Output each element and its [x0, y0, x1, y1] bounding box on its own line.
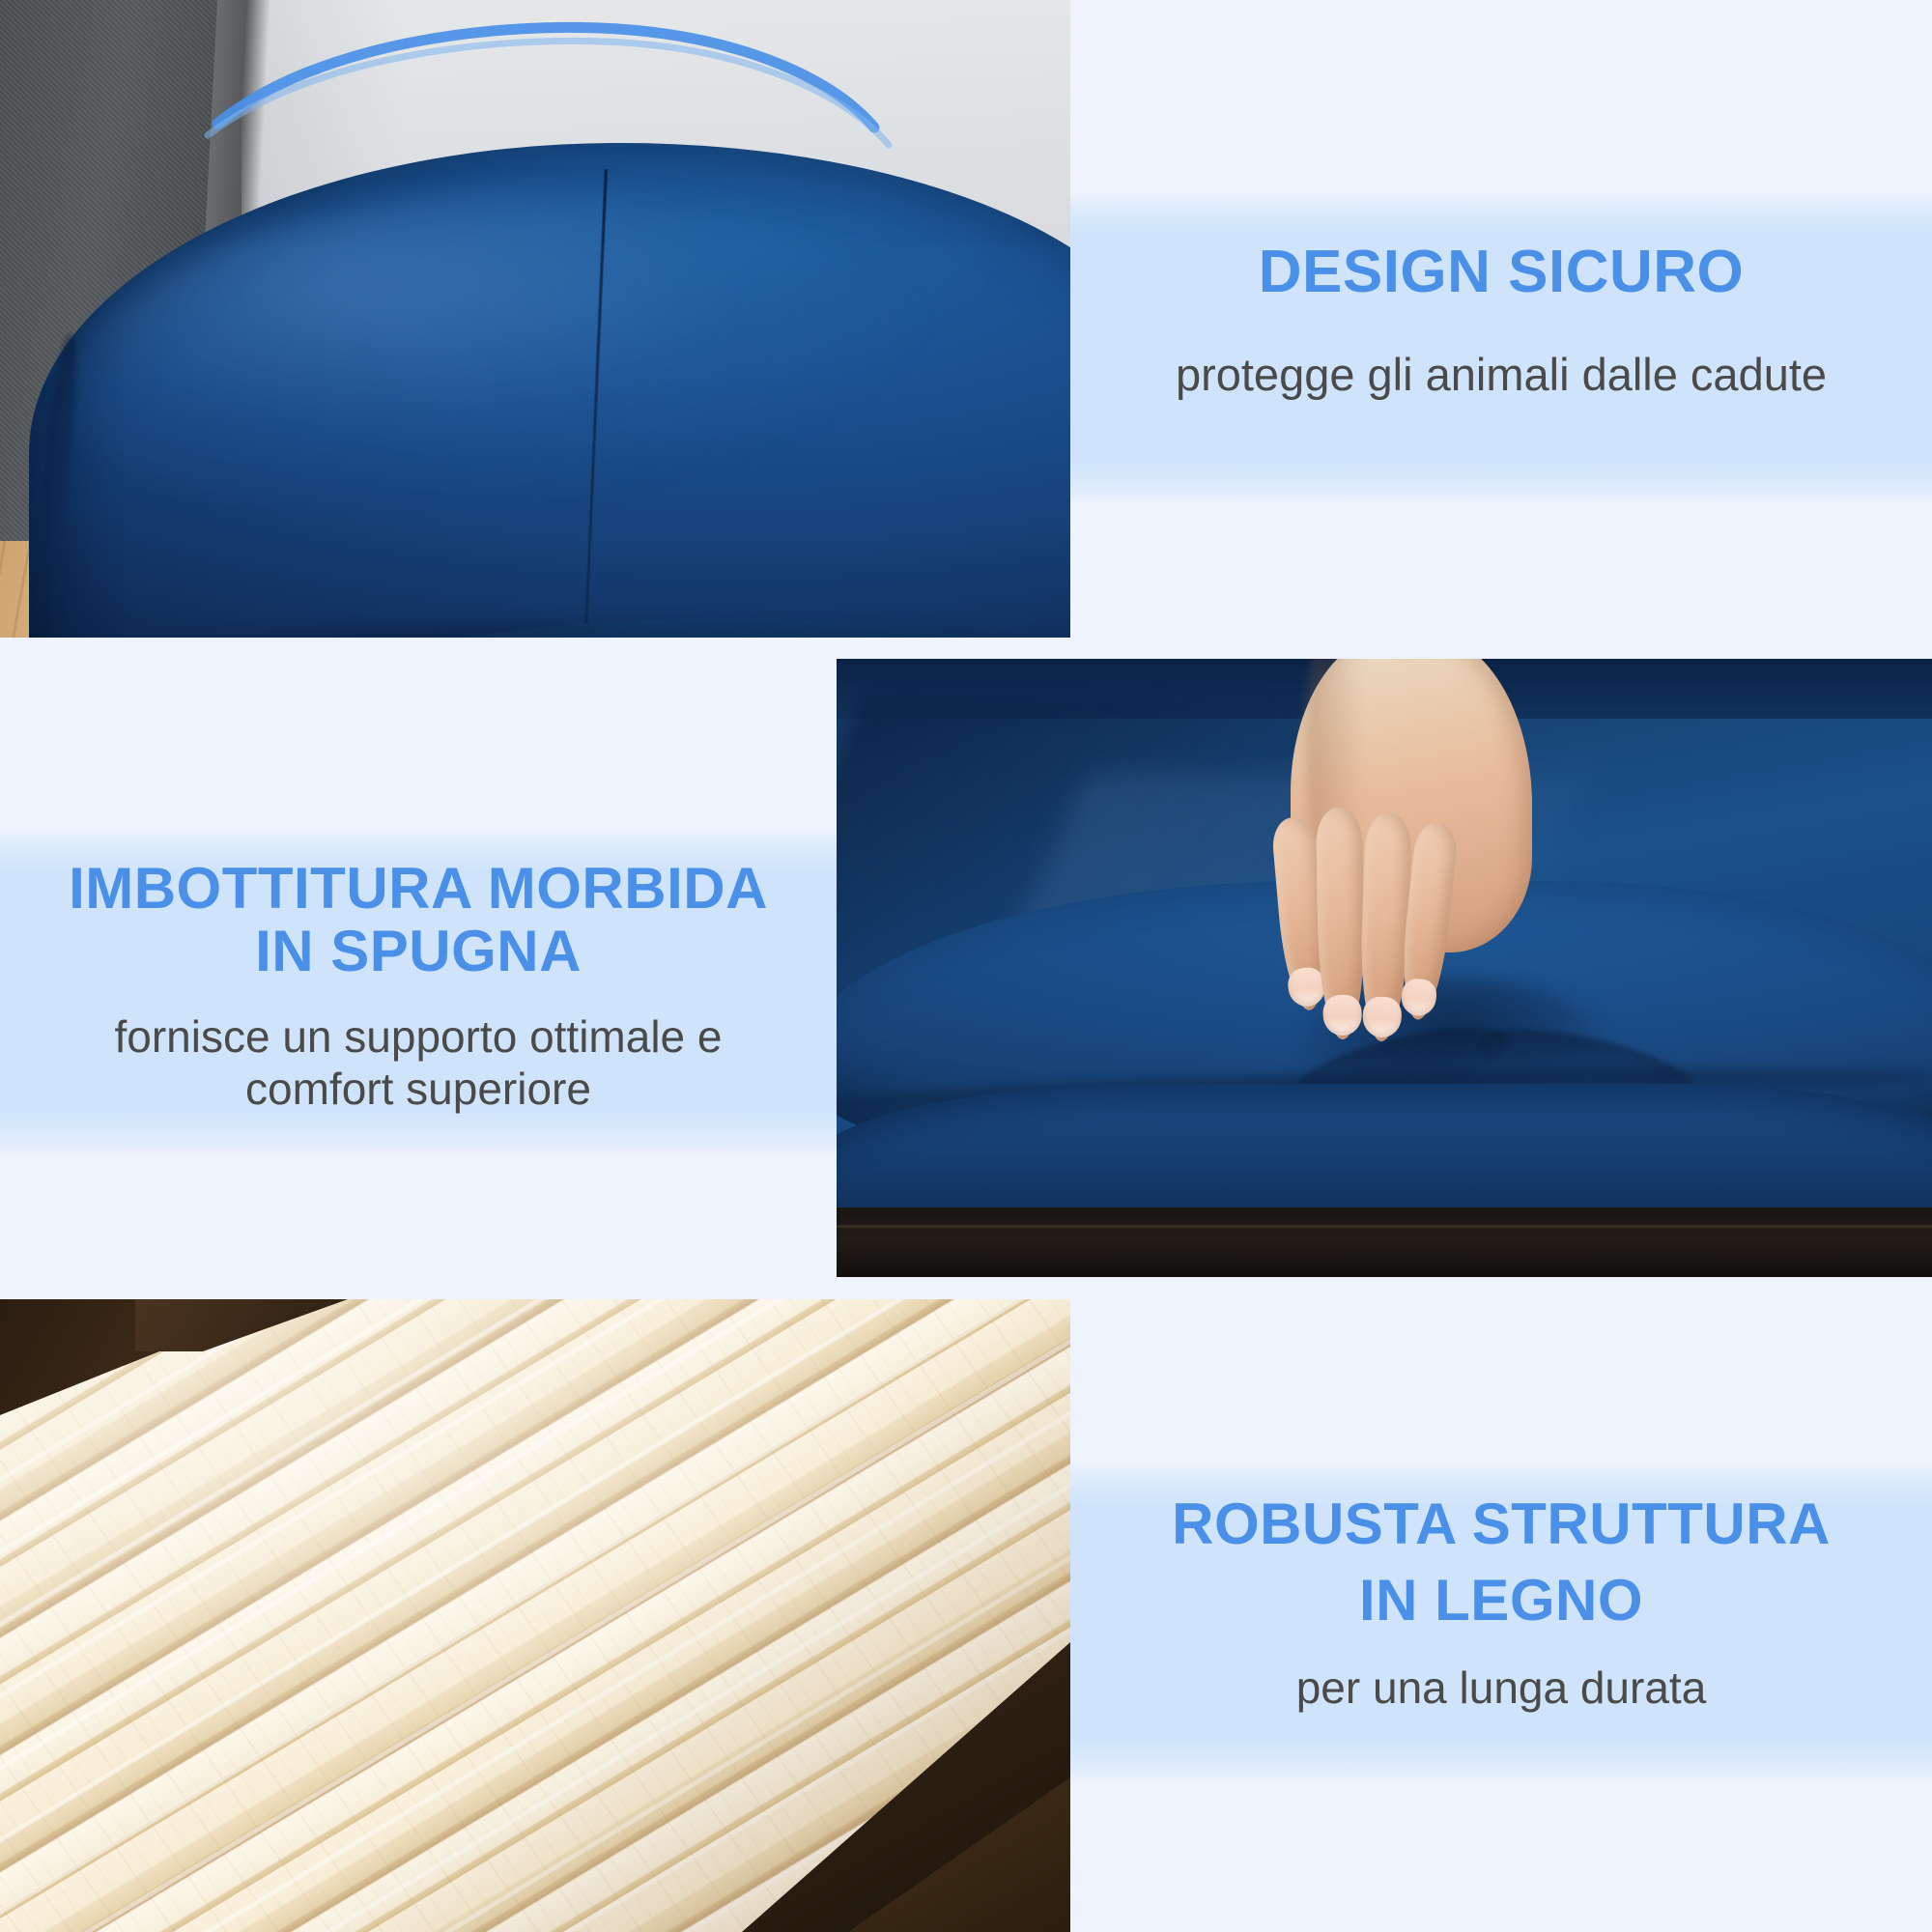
text-block-robusta-struttura: ROBUSTA STRUTTURA IN LEGNO per una lunga…	[1070, 1466, 1932, 1714]
panel-1-heading: DESIGN SICURO	[1070, 198, 1932, 305]
panel-3-heading-line-1: ROBUSTA STRUTTURA	[1070, 1466, 1932, 1556]
nail-middle	[1322, 995, 1362, 1037]
panel-2-heading-line-1: IMBOTTITURA MORBIDA	[0, 833, 837, 921]
panel-1-subtitle: protegge gli animali dalle cadute	[1070, 305, 1932, 401]
panel-3-heading-line-2: IN LEGNO	[1070, 1556, 1932, 1633]
text-block-design-sicuro: DESIGN SICURO protegge gli animali dalle…	[1070, 198, 1932, 401]
dark-wooden-frame	[837, 1207, 1932, 1277]
text-block-imbottitura: IMBOTTITURA MORBIDA IN SPUGNA fornisce u…	[0, 833, 837, 1115]
photo-hand-pressing-cushion	[837, 659, 1932, 1277]
finger-middle	[1316, 808, 1366, 1040]
panel-2-heading-line-2: IN SPUGNA	[0, 921, 837, 983]
panel-3-subtitle: per una lunga durata	[1070, 1633, 1932, 1714]
panel-2-subtitle-line-1: fornisce un supporto ottimale e	[0, 983, 837, 1063]
infographic-canvas: DESIGN SICURO protegge gli animali dalle…	[0, 0, 1932, 1932]
curve-arrow-icon	[0, 0, 1070, 638]
photo-wooden-slat-frame	[0, 1299, 1070, 1932]
frame-highlight	[837, 1225, 1932, 1228]
photo-pet-sofa-backrest	[0, 0, 1070, 638]
hand	[1262, 659, 1571, 1184]
nail-little	[1400, 978, 1438, 1018]
nail-ring	[1362, 996, 1402, 1037]
panel-2-subtitle-line-2: comfort superiore	[0, 1063, 837, 1115]
